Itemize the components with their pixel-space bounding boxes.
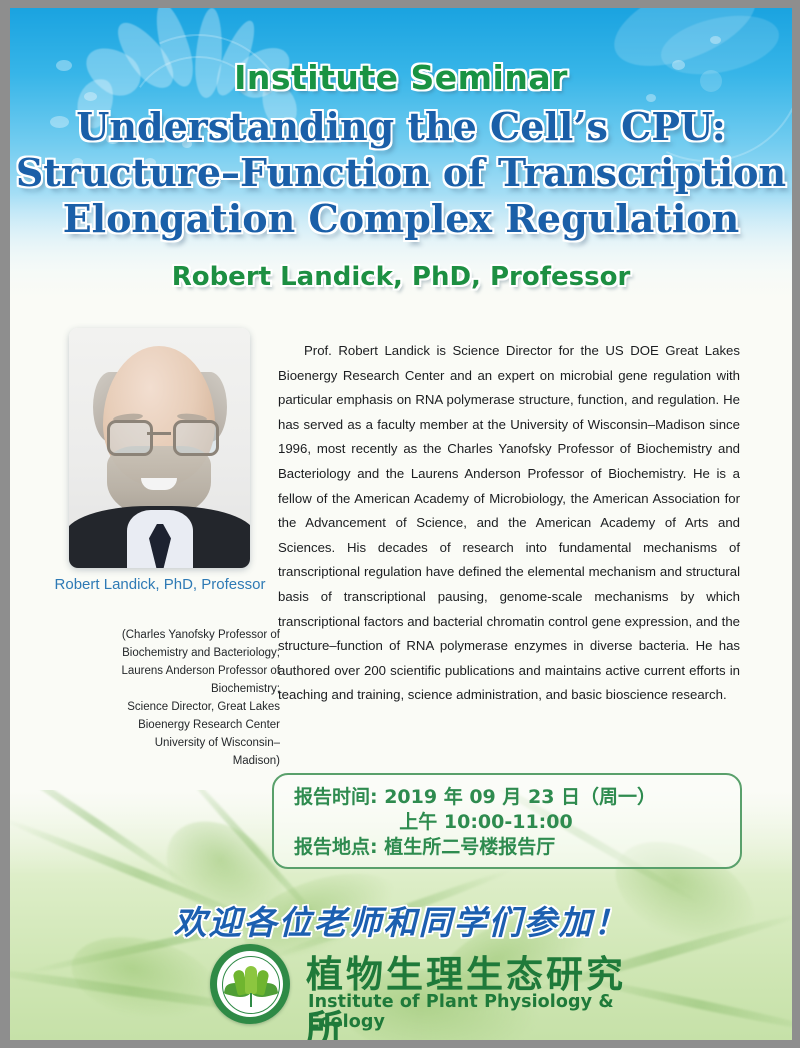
event-info-text: 报告时间: 2019 年 09 月 23 日（周一） 上午 10:00-11:0… bbox=[294, 785, 720, 860]
event-info-box: 报告时间: 2019 年 09 月 23 日（周一） 上午 10:00-11:0… bbox=[272, 773, 742, 869]
institute-footer: 植物生理生态研究所 Institute of Plant Physiology … bbox=[210, 942, 630, 1028]
affiliation-line: Laurens Anderson Professor of bbox=[40, 662, 280, 680]
poster-speaker-line: Robert Landick, PhD, Professor bbox=[10, 262, 792, 292]
institute-name-en: Institute of Plant Physiology & Ecology bbox=[308, 992, 630, 1032]
poster-title-line-2: Structure–Function of Transcription bbox=[10, 150, 792, 196]
institute-logo-icon bbox=[210, 944, 290, 1024]
event-time-detail: 上午 10:00-11:00 bbox=[294, 810, 720, 835]
speaker-photo-frame bbox=[69, 328, 250, 568]
affiliation-line: Science Director, Great Lakes bbox=[40, 698, 280, 716]
top-banner: Institute Seminar Understanding the Cell… bbox=[10, 8, 792, 308]
seminar-poster: Institute Seminar Understanding the Cell… bbox=[10, 8, 792, 1040]
speaker-photo-caption: Robert Landick, PhD, Professor bbox=[40, 574, 280, 596]
affiliation-line: Biochemistry; bbox=[40, 680, 280, 698]
affiliation-line: Madison) bbox=[40, 752, 280, 770]
speaker-photo bbox=[69, 328, 250, 568]
affiliation-line: University of Wisconsin– bbox=[40, 734, 280, 752]
speaker-bio-paragraph: Prof. Robert Landick is Science Director… bbox=[278, 339, 740, 708]
affiliation-line: Bioenergy Research Center bbox=[40, 716, 280, 734]
event-place-line: 报告地点: 植生所二号楼报告厅 bbox=[294, 835, 720, 860]
event-time-line: 报告时间: 2019 年 09 月 23 日（周一） bbox=[294, 785, 720, 810]
affiliation-line: (Charles Yanofsky Professor of bbox=[40, 626, 280, 644]
poster-title-line-3: Elongation Complex Regulation bbox=[10, 196, 792, 242]
poster-kicker: Institute Seminar bbox=[10, 58, 792, 97]
speaker-affiliation: (Charles Yanofsky Professor of Biochemis… bbox=[40, 626, 280, 770]
poster-title: Understanding the Cell’s CPU: Structure–… bbox=[10, 104, 792, 242]
welcome-message: 欢迎各位老师和同学们参加！ bbox=[10, 896, 792, 944]
affiliation-line: Biochemistry and Bacteriology; bbox=[40, 644, 280, 662]
poster-title-line-1: Understanding the Cell’s CPU: bbox=[10, 104, 792, 150]
